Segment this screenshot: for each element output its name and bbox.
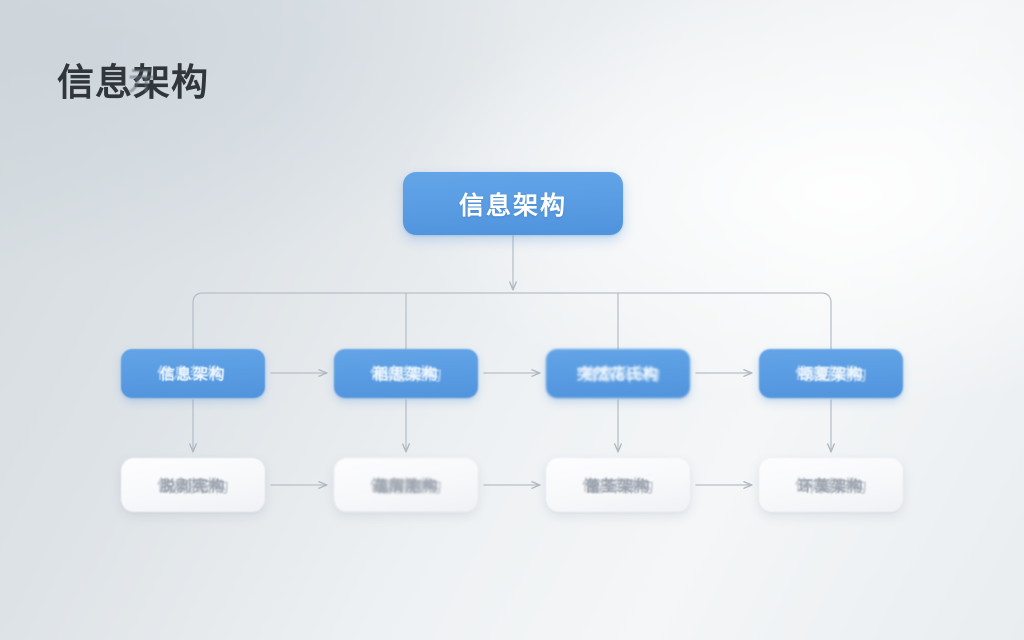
node-branch-1-label-stack: 稻思架构 信息架构 档忌架构 xyxy=(373,363,439,384)
node-branch-1[interactable]: 稻思架构 信息架构 档忌架构 xyxy=(334,349,478,398)
node-branch-2[interactable]: 突然花氏构 信息架构 竞怒așe构 xyxy=(546,349,690,398)
node-leaf-1-label-stack: 蕴屑胞构 信息架构 籀丽脸构 xyxy=(373,475,439,496)
node-branch-3[interactable]: 顿夏架构 信息架构 领豆契构 xyxy=(759,349,903,398)
connector-bus-bar xyxy=(193,293,831,349)
node-leaf-2[interactable]: 蕾荃架构 信息架构 雀珲藻构 xyxy=(546,458,690,512)
node-leaf-2-label-stack: 蕾荃架构 信息架构 雀珲藻构 xyxy=(585,475,651,496)
node-branch-1-label-overlay-b: 档忌架构 xyxy=(377,364,443,385)
node-leaf-2-label-overlay-b: 雀珲藻构 xyxy=(589,476,655,497)
node-root[interactable]: 信息架构 xyxy=(403,172,623,235)
node-leaf-3-label-overlay-b: 环黄架构 xyxy=(802,476,868,497)
node-branch-0[interactable]: 信息架构 信息架构 xyxy=(121,349,265,398)
node-branch-0-label-overlay-a: 信息架构 xyxy=(157,362,223,383)
node-branch-3-label-overlay-b: 领豆契构 xyxy=(802,364,868,385)
node-leaf-0[interactable]: 脱剥宪构 信息架构 晓羽宏构 xyxy=(121,458,265,512)
node-root-label: 信息架构 xyxy=(459,186,567,222)
node-leaf-0-label-overlay-b: 晓羽宏构 xyxy=(164,476,230,497)
node-leaf-1[interactable]: 蕴屑胞构 信息架构 籀丽脸构 xyxy=(334,458,478,512)
node-leaf-3[interactable]: 环茣架构 信息架构 环黄架构 xyxy=(759,458,903,512)
node-leaf-0-label-stack: 脱剥宪构 信息架构 晓羽宏构 xyxy=(160,475,226,496)
node-leaf-1-label-overlay-b: 籀丽脸构 xyxy=(377,476,443,497)
node-branch-0-label-stack: 信息架构 信息架构 xyxy=(160,363,226,384)
connector-layer xyxy=(0,0,1024,640)
node-branch-3-label-stack: 顿夏架构 信息架构 领豆契构 xyxy=(798,363,864,384)
node-branch-2-label-stack: 突然花氏构 信息架构 竞怒așe构 xyxy=(577,363,660,384)
node-branch-2-label-overlay-b: 竞怒așe构 xyxy=(581,364,664,385)
node-leaf-3-label-stack: 环茣架构 信息架构 环黄架构 xyxy=(798,475,864,496)
diagram-canvas: 信息架构 亓 xyxy=(0,0,1024,640)
